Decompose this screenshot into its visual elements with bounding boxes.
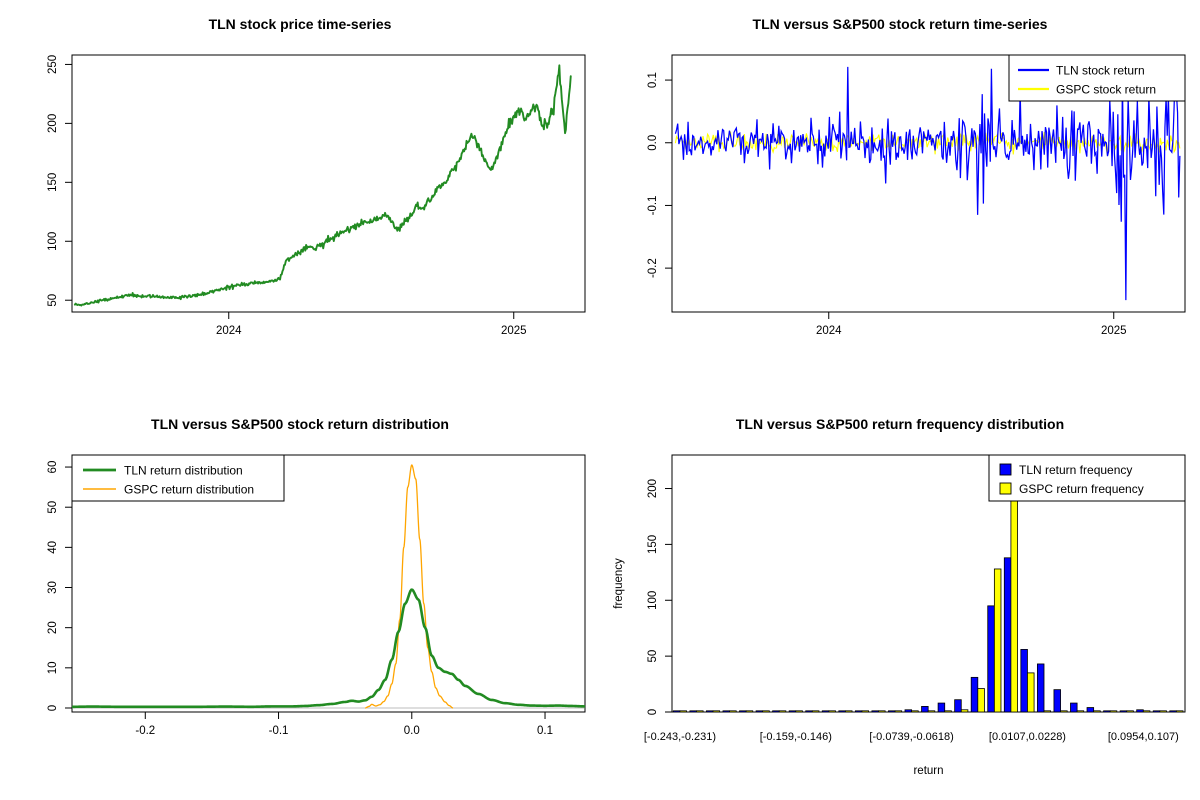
y-tick-label-2: 150 <box>47 173 59 192</box>
x-tick-label-3: 0.1 <box>537 725 553 737</box>
bar-gspc-12 <box>879 711 886 712</box>
bar-gspc-18 <box>978 689 985 712</box>
legend-return-timeseries: TLN stock returnGSPC stock return <box>1009 55 1185 101</box>
bar-gspc-30 <box>1176 711 1183 712</box>
bar-gspc-28 <box>1143 711 1150 712</box>
x-tick-label-1: 2025 <box>501 325 527 337</box>
bar-tln-24 <box>1070 703 1077 712</box>
bar-gspc-27 <box>1127 711 1134 712</box>
histogram-bars <box>673 492 1183 712</box>
x-bin-label-2: [-0.0739,-0.0618) <box>869 731 953 743</box>
bar-gspc-14 <box>912 711 919 712</box>
bar-tln-26 <box>1104 711 1111 712</box>
tln-price-line <box>75 65 571 305</box>
bar-gspc-17 <box>961 710 968 712</box>
bar-tln-7 <box>789 711 796 712</box>
bar-tln-15 <box>922 706 929 712</box>
y-tick-label-0: 0 <box>647 709 659 715</box>
bar-gspc-13 <box>895 711 902 712</box>
bar-gspc-22 <box>1044 711 1051 712</box>
legend-return-frequency: TLN return frequencyGSPC return frequenc… <box>989 455 1185 501</box>
legend-label-1: GSPC return frequency <box>1019 482 1144 496</box>
y-tick-label-6: 60 <box>47 461 59 474</box>
bar-gspc-23 <box>1061 711 1068 712</box>
return-distribution-plot: 0102030405060-0.2-0.10.00.1TLN return di… <box>0 400 600 800</box>
x-tick-label-2: 0.0 <box>404 725 420 737</box>
bar-tln-18 <box>971 677 978 712</box>
bar-tln-3 <box>723 711 730 712</box>
y-tick-label-5: 50 <box>47 501 59 514</box>
bar-gspc-21 <box>1027 673 1034 712</box>
x-bin-label-4: [0.0954,0.107) <box>1108 731 1179 743</box>
bar-tln-19 <box>988 606 995 712</box>
y-tick-label-1: 10 <box>47 661 59 674</box>
bar-tln-9 <box>822 711 829 712</box>
return-frequency-plot: 050100150200[-0.243,-0.231)[-0.159,-0.14… <box>600 400 1200 800</box>
x-axis-title: return <box>913 765 943 777</box>
x-tick-label-0: 2024 <box>216 325 242 337</box>
x-bin-label-3: [0.0107,0.0228) <box>989 731 1066 743</box>
bar-tln-16 <box>938 703 945 712</box>
bar-gspc-1 <box>696 711 703 712</box>
y-tick-label-3: 30 <box>47 581 59 594</box>
bar-gspc-11 <box>862 711 869 712</box>
y-tick-label-4: 250 <box>47 55 59 74</box>
bar-tln-8 <box>806 711 813 712</box>
bar-tln-20 <box>1004 558 1011 712</box>
bar-tln-14 <box>905 710 912 712</box>
bar-gspc-25 <box>1094 711 1101 712</box>
y-tick-label-1: 100 <box>47 232 59 251</box>
bar-tln-12 <box>872 711 879 712</box>
legend-label-1: GSPC stock return <box>1056 83 1156 97</box>
legend-label-0: TLN return distribution <box>124 464 243 478</box>
bar-gspc-16 <box>945 711 952 712</box>
tln-density-line <box>72 590 585 707</box>
bar-tln-10 <box>839 711 846 712</box>
bar-tln-21 <box>1021 649 1028 712</box>
x-bin-label-0: [-0.243,-0.231) <box>644 731 716 743</box>
bar-gspc-9 <box>829 711 836 712</box>
gspc-density-line <box>365 465 453 708</box>
legend-label-0: TLN return frequency <box>1019 463 1132 477</box>
bar-gspc-5 <box>763 711 770 712</box>
bar-gspc-0 <box>680 711 687 712</box>
bar-tln-2 <box>706 711 713 712</box>
legend-swatch-0 <box>1000 464 1011 475</box>
bar-tln-22 <box>1037 664 1044 712</box>
bar-tln-30 <box>1170 711 1177 712</box>
y-tick-label-2: 20 <box>47 621 59 634</box>
bar-gspc-26 <box>1110 711 1117 712</box>
bar-gspc-15 <box>928 711 935 712</box>
bar-gspc-24 <box>1077 711 1084 712</box>
bar-gspc-10 <box>845 711 852 712</box>
bar-gspc-8 <box>812 711 819 712</box>
y-tick-label-1: -0.1 <box>647 196 659 216</box>
y-tick-label-3: 0.1 <box>647 72 659 88</box>
panel-tln-price-timeseries: TLN stock price time-series 501001502002… <box>0 0 600 400</box>
y-axis-title: frequency <box>613 558 625 609</box>
legend-swatch-1 <box>1000 483 1011 494</box>
bar-tln-5 <box>756 711 763 712</box>
legend-return-distribution: TLN return distributionGSPC return distr… <box>72 455 284 501</box>
bar-tln-1 <box>690 711 697 712</box>
bar-tln-23 <box>1054 690 1061 712</box>
return-timeseries-plot: -0.2-0.10.00.120242025TLN stock returnGS… <box>600 0 1200 400</box>
tln-price-plot: 5010015020025020242025 <box>0 0 600 400</box>
bar-gspc-2 <box>713 711 720 712</box>
y-tick-label-3: 200 <box>47 114 59 133</box>
bar-gspc-29 <box>1160 711 1167 712</box>
bar-tln-29 <box>1153 711 1160 712</box>
bar-tln-13 <box>888 711 895 712</box>
x-bin-label-1: [-0.159,-0.146) <box>760 731 832 743</box>
legend-label-0: TLN stock return <box>1056 64 1145 78</box>
y-tick-label-2: 0.0 <box>647 135 659 151</box>
y-tick-label-4: 40 <box>47 541 59 554</box>
bar-gspc-6 <box>779 711 786 712</box>
bar-tln-11 <box>855 711 862 712</box>
bar-tln-6 <box>773 711 780 712</box>
y-tick-label-3: 150 <box>647 535 659 554</box>
x-tick-label-1: -0.1 <box>269 725 289 737</box>
bar-gspc-20 <box>1011 492 1018 712</box>
panel-tln-gspc-return-timeseries: TLN versus S&P500 stock return time-seri… <box>600 0 1200 400</box>
tln-price-plot-frame <box>72 55 585 312</box>
y-tick-label-1: 50 <box>647 650 659 663</box>
y-tick-label-0: 0 <box>47 705 59 711</box>
x-tick-label-1: 2025 <box>1101 325 1127 337</box>
bar-tln-25 <box>1087 708 1094 712</box>
bar-tln-28 <box>1137 710 1144 712</box>
panel-tln-gspc-return-distribution: TLN versus S&P500 stock return distribut… <box>0 400 600 800</box>
y-tick-label-0: 50 <box>47 294 59 307</box>
bar-gspc-7 <box>796 711 803 712</box>
x-tick-label-0: -0.2 <box>135 725 155 737</box>
bar-gspc-3 <box>730 711 737 712</box>
bar-tln-27 <box>1120 711 1127 712</box>
y-tick-label-0: -0.2 <box>647 258 659 278</box>
bar-gspc-4 <box>746 711 753 712</box>
bar-gspc-19 <box>994 569 1001 712</box>
legend-label-1: GSPC return distribution <box>124 483 254 497</box>
figure-canvas: TLN stock price time-series 501001502002… <box>0 0 1200 800</box>
x-tick-label-0: 2024 <box>816 325 842 337</box>
bar-tln-0 <box>673 711 680 712</box>
bar-tln-17 <box>955 700 962 712</box>
y-tick-label-4: 200 <box>647 479 659 498</box>
bar-tln-4 <box>740 711 747 712</box>
panel-tln-gspc-return-frequency: TLN versus S&P500 return frequency distr… <box>600 400 1200 800</box>
y-tick-label-2: 100 <box>647 591 659 610</box>
